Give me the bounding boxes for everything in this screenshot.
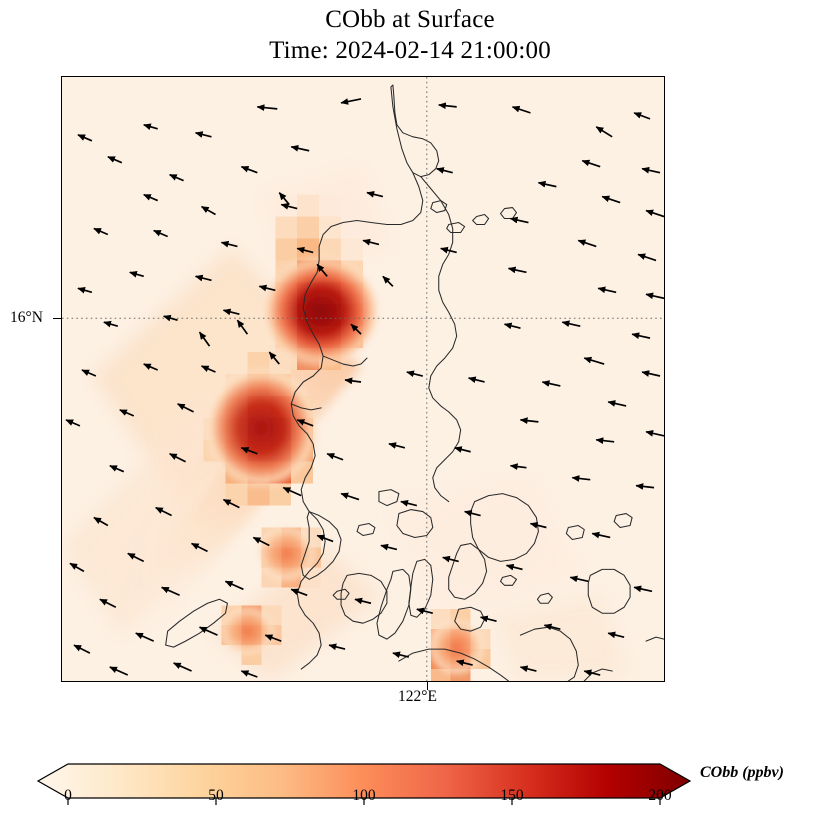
figure-title: CObb at Surface Time: 2024-02-14 21:00:0… <box>0 4 820 66</box>
colorbar-tick-150: 150 <box>500 787 523 805</box>
title-line-variable: CObb at Surface <box>0 4 820 35</box>
x-axis-tick-label: 122°E <box>398 688 437 706</box>
map-plot-area[interactable] <box>61 76 665 682</box>
colorbar[interactable]: 0 50 100 150 200 CObb (ppbv) <box>0 757 820 839</box>
y-axis-tick-label: 16°N <box>10 309 43 327</box>
colorbar-gradient[interactable] <box>0 757 820 807</box>
colorbar-label: CObb (ppbv) <box>700 764 784 782</box>
colorbar-tick-50: 50 <box>208 787 224 805</box>
colorbar-tick-100: 100 <box>352 787 375 805</box>
title-line-timestamp: Time: 2024-02-14 21:00:00 <box>0 35 820 66</box>
y-axis-tickmark <box>53 318 61 319</box>
colorbar-tick-200: 200 <box>648 787 671 805</box>
map-canvas <box>62 77 664 681</box>
colorbar-tick-0: 0 <box>64 787 72 805</box>
